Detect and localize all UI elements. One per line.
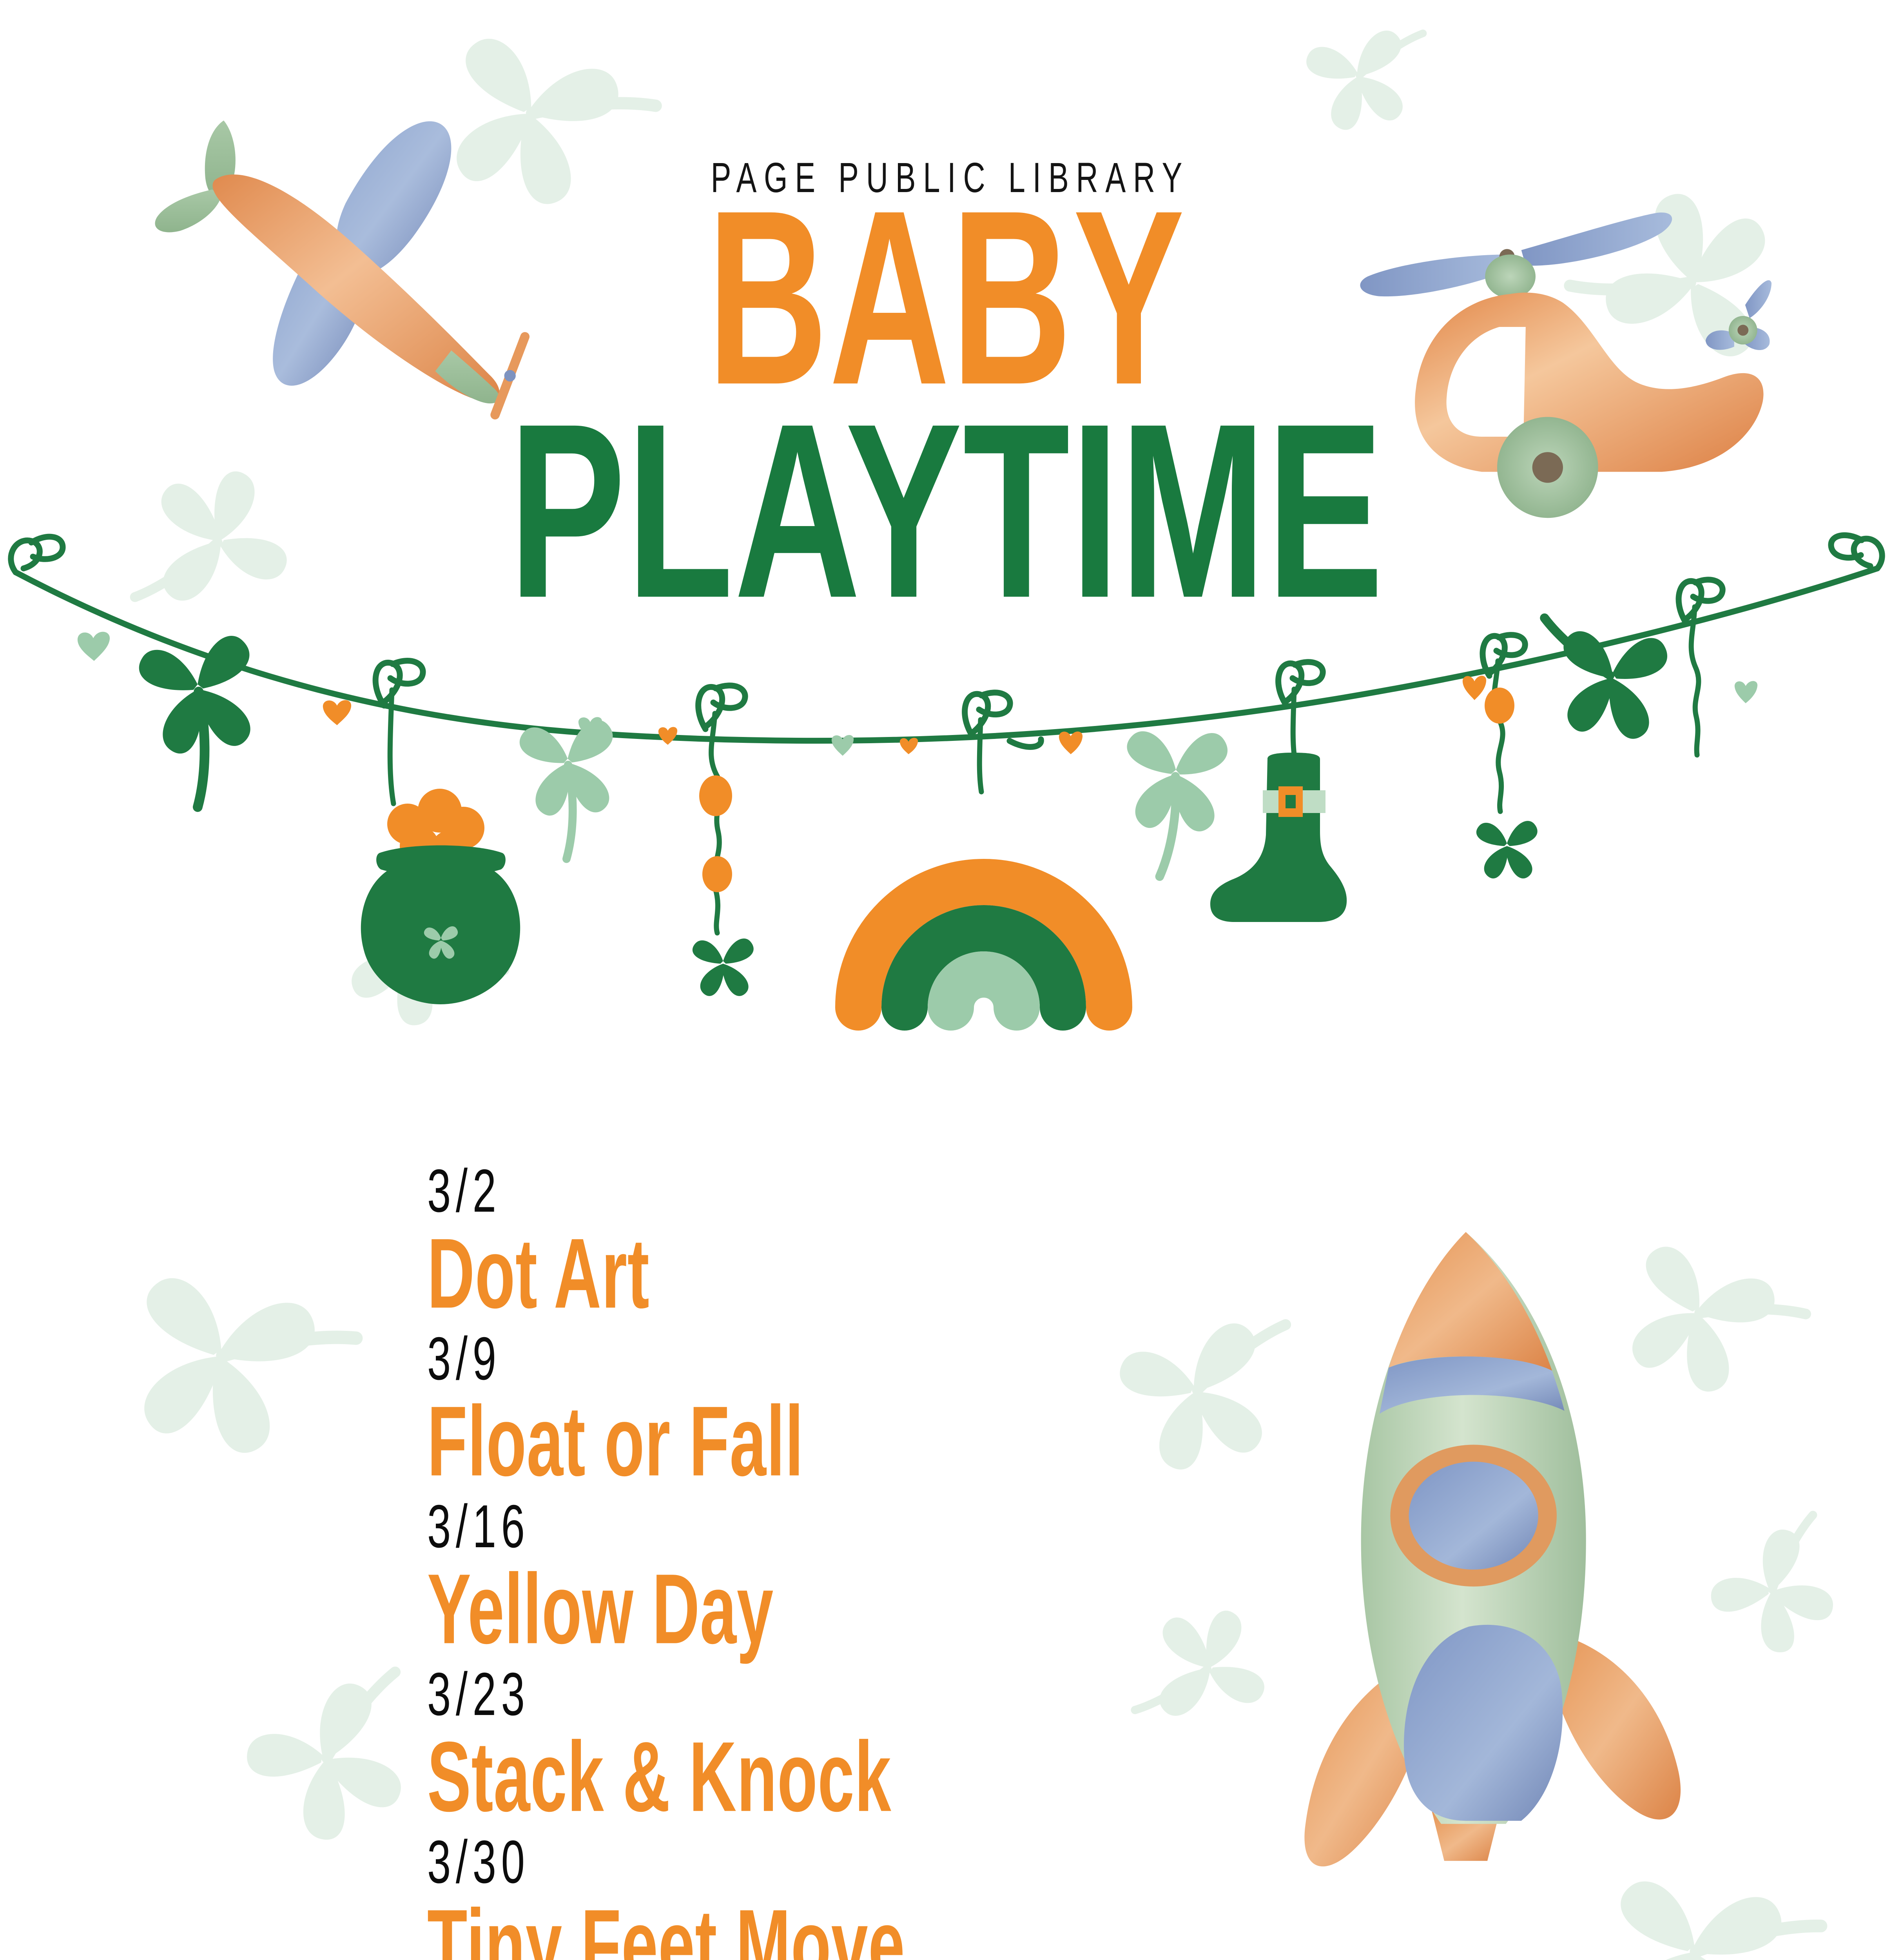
schedule-date: 3/23 [427, 1664, 976, 1724]
heart-icon [78, 632, 110, 661]
clover-icon [1530, 618, 1670, 742]
clover-icon [136, 633, 270, 812]
watermark-clover-icon [1258, 0, 1458, 176]
schedule-row: 3/30 Tiny Feet Move [427, 1831, 1211, 1960]
schedule-date: 3/9 [427, 1328, 976, 1389]
schedule-row: 3/23 Stack & Knock [427, 1664, 1211, 1811]
schedule-event: Tiny Feet Move [427, 1895, 1039, 1960]
schedule-event: Dot Art [427, 1223, 1039, 1323]
clover-icon [1476, 821, 1538, 878]
schedule-row: 3/16 Yellow Day [427, 1496, 1211, 1643]
rainbow-icon [858, 882, 1109, 1007]
schedule-date: 3/2 [427, 1160, 976, 1221]
schedule-date: 3/16 [427, 1496, 976, 1557]
bead-icon [1485, 688, 1514, 724]
heart-icon [323, 700, 351, 725]
schedule-date: 3/30 [427, 1831, 976, 1892]
title-line-playtime: PLAYTIME [132, 409, 1761, 613]
clover-icon [693, 938, 754, 996]
watermark-clover-icon [39, 1176, 400, 1537]
clover-icon [1118, 727, 1229, 881]
heart-icon [1059, 731, 1082, 754]
schedule-event: Yellow Day [427, 1559, 1039, 1659]
leprechaun-boot-icon [1210, 753, 1347, 922]
page-title: BABY PLAYTIME [0, 196, 1893, 577]
clover-icon [519, 719, 621, 862]
heart-icon [658, 727, 677, 745]
bead-icon [702, 856, 732, 892]
schedule-row: 3/9 Float or Fall [427, 1328, 1211, 1475]
schedule-row: 3/2 Dot Art [427, 1160, 1211, 1308]
poster-canvas: PAGE PUBLIC LIBRARY BABY PLAYTIME [0, 0, 1893, 1960]
pot-of-gold-icon [361, 789, 520, 1004]
schedule-list: 3/2 Dot Art 3/9 Float or Fall 3/16 Yello… [427, 1160, 1211, 1960]
rocket-illustration [1235, 1207, 1697, 1886]
schedule-event: Stack & Knock [427, 1727, 1039, 1826]
bead-icon [699, 775, 732, 816]
schedule-event: Float or Fall [427, 1391, 1039, 1491]
title-line-baby: BABY [170, 196, 1723, 400]
heart-icon [1463, 676, 1486, 700]
heart-icon [1735, 681, 1757, 703]
